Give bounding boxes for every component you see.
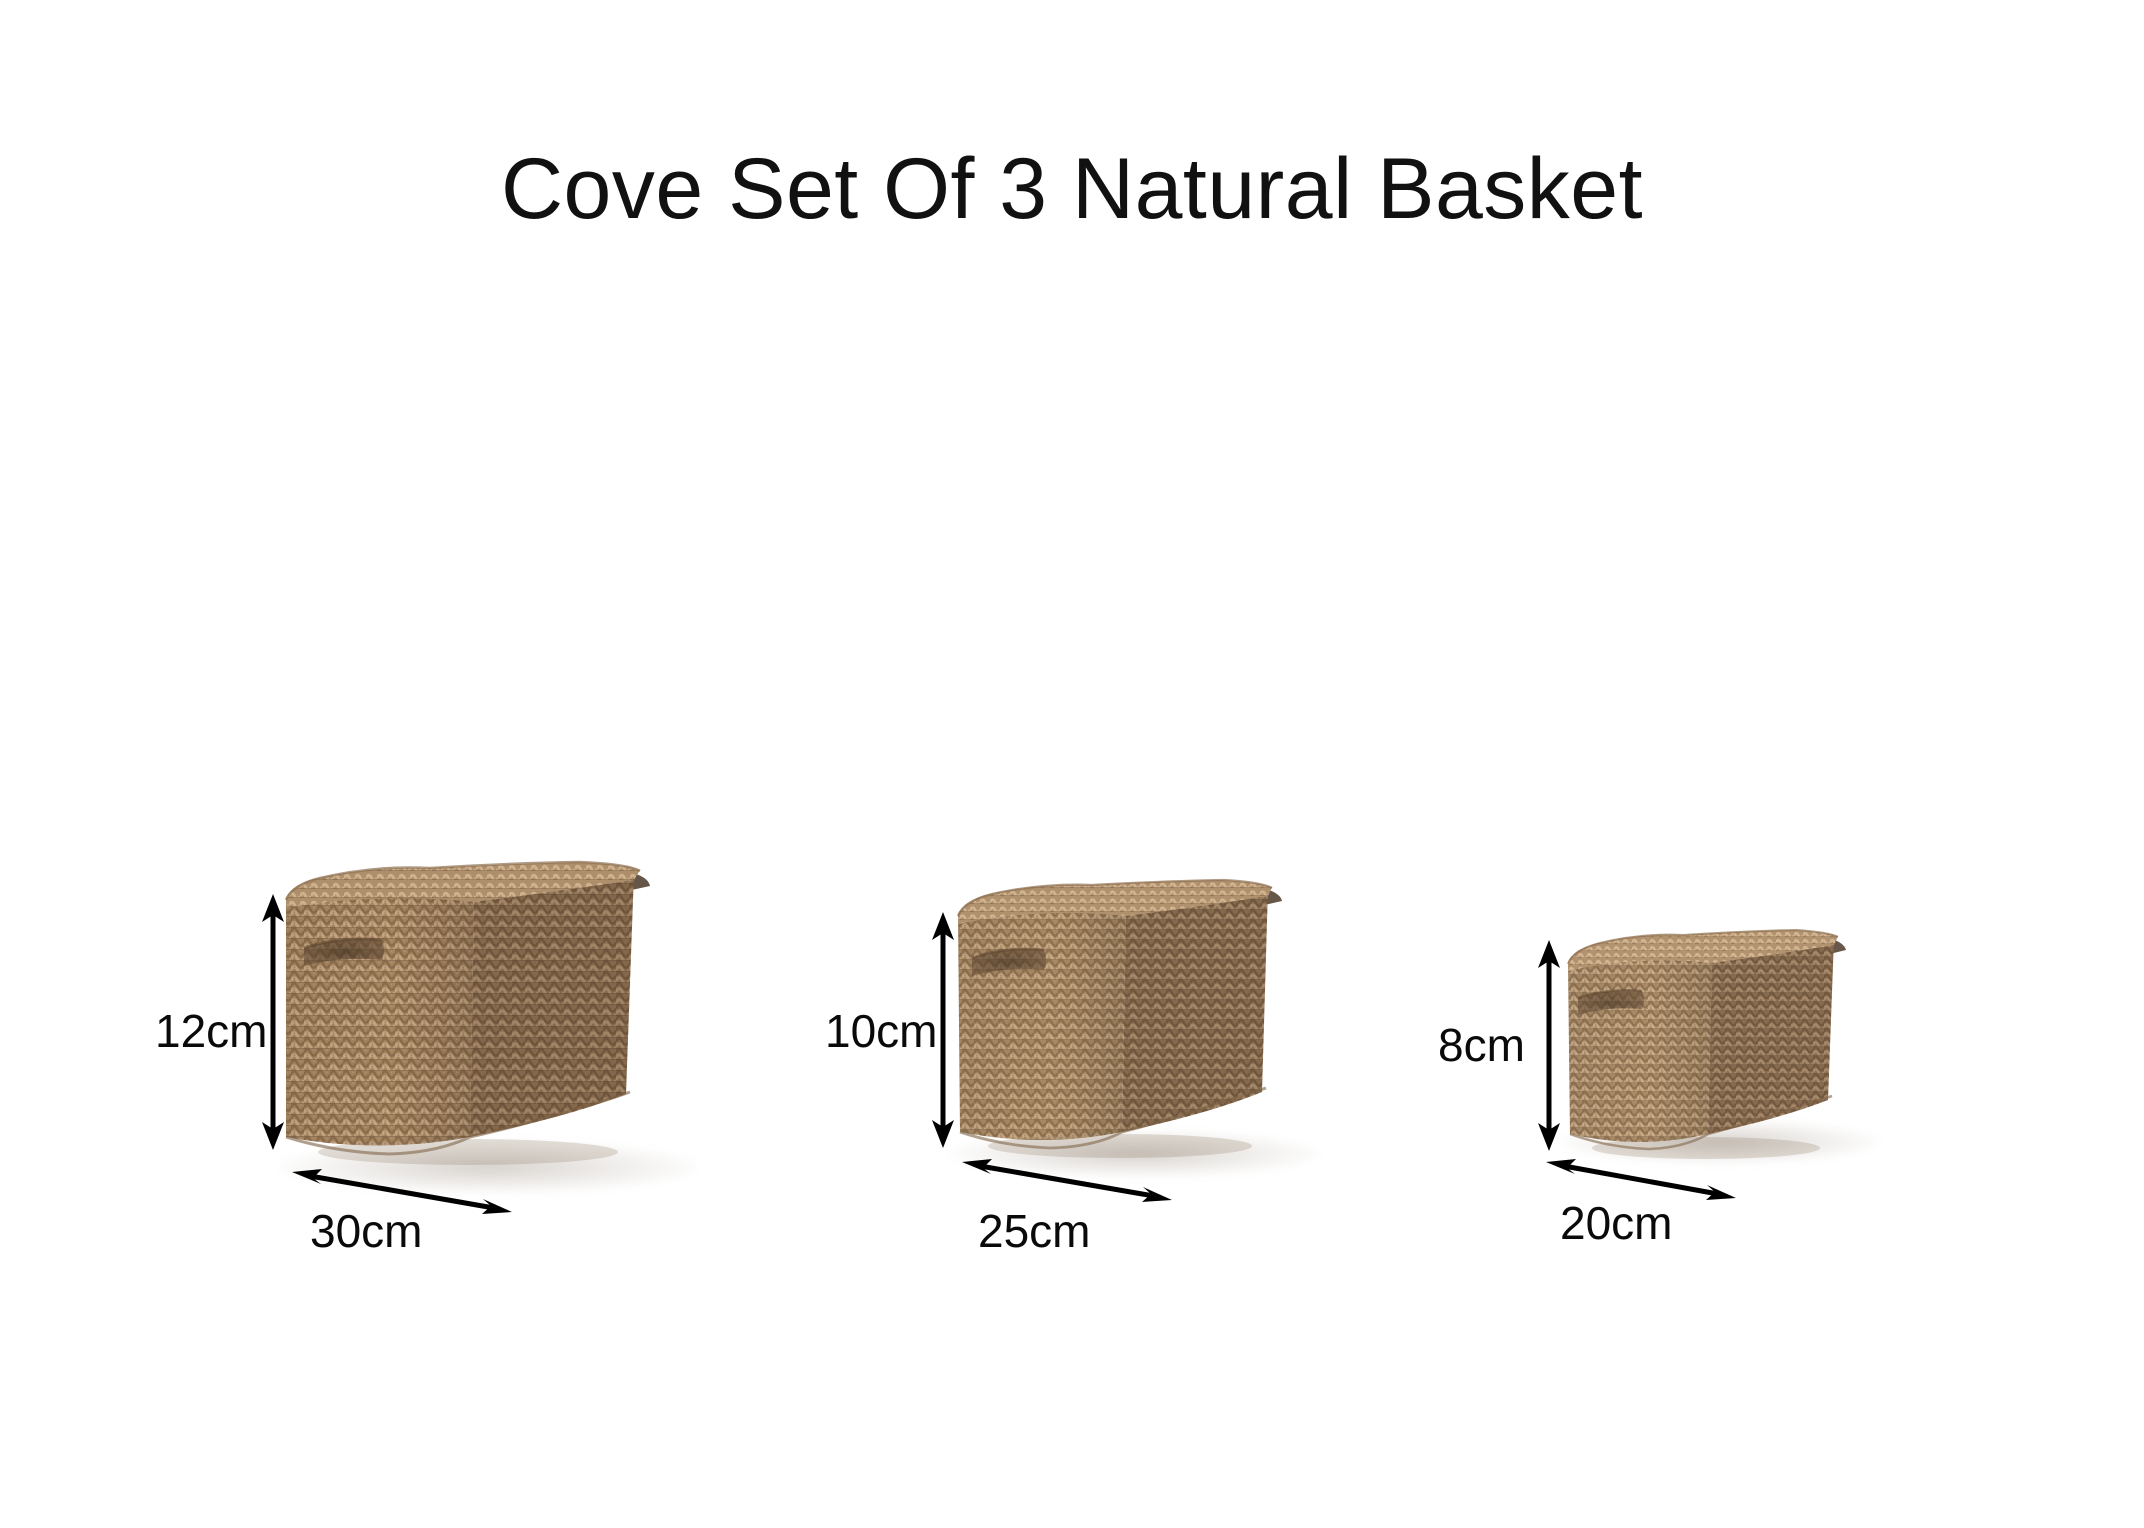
- basket-small-height-arrow: [1528, 938, 1570, 1153]
- basket-small-group: 8cm 20cm: [1120, 0, 1760, 1300]
- basket-large-height-label: 12cm: [155, 1008, 267, 1054]
- basket-medium-width-label: 25cm: [978, 1208, 1090, 1254]
- basket-small-width-label: 20cm: [1560, 1200, 1672, 1246]
- basket-small-image: [1560, 930, 1880, 1160]
- basket-large-group: 12cm 30cm: [0, 0, 720, 1300]
- basket-large-image: [278, 862, 698, 1167]
- basket-small-height-label: 8cm: [1438, 1022, 1525, 1068]
- product-dimension-diagram: Cove Set Of 3 Natural Basket: [0, 0, 2144, 1528]
- basket-large-width-label: 30cm: [310, 1208, 422, 1254]
- basket-medium-height-label: 10cm: [825, 1008, 937, 1054]
